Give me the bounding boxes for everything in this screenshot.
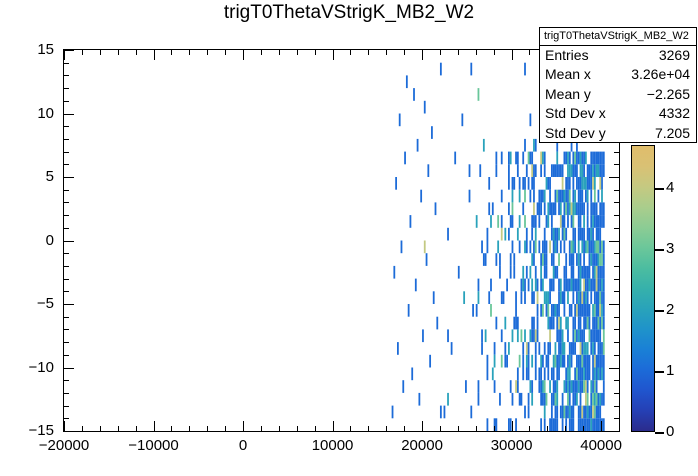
y-tick-right	[614, 253, 620, 254]
heatmap-cell	[547, 291, 549, 304]
heatmap-cell	[592, 266, 594, 279]
heatmap-cell	[420, 190, 422, 203]
heatmap-cell	[558, 317, 560, 330]
y-tick-right	[609, 177, 620, 178]
heatmap-cell	[556, 164, 558, 177]
y-tick-right	[614, 266, 620, 267]
heatmap-cell	[580, 279, 582, 292]
heatmap-cell	[440, 406, 442, 419]
heatmap-cell	[546, 177, 548, 190]
heatmap-cell	[495, 418, 497, 431]
heatmap-cell	[522, 279, 524, 292]
x-tick	[171, 426, 172, 432]
heatmap-cell	[522, 355, 524, 368]
heatmap-cell	[567, 380, 569, 393]
heatmap-cell	[603, 380, 605, 393]
heatmap-cell	[553, 266, 555, 279]
heatmap-cell	[589, 329, 591, 342]
heatmap-cell	[528, 177, 530, 190]
heatmap-cell	[519, 355, 521, 368]
heatmap-cell	[598, 279, 600, 292]
heatmap-cell	[598, 241, 600, 254]
heatmap-cell	[529, 241, 531, 254]
heatmap-cell	[560, 215, 562, 228]
heatmap-cell	[585, 190, 587, 203]
stat-value: −2.265	[647, 85, 690, 104]
heatmap-cell	[537, 304, 539, 317]
heatmap-cell	[565, 228, 567, 241]
heatmap-cell	[590, 342, 592, 355]
heatmap-cell	[572, 291, 574, 304]
z-tick	[655, 310, 664, 312]
heatmap-cell	[599, 329, 601, 342]
heatmap-cell	[519, 241, 521, 254]
heatmap-cell	[497, 241, 499, 254]
heatmap-cell	[599, 342, 601, 355]
heatmap-cell	[596, 406, 598, 419]
heatmap-cell	[524, 406, 526, 419]
heatmap-cell	[555, 164, 557, 177]
heatmap-cell	[598, 304, 600, 317]
heatmap-cell	[551, 228, 553, 241]
heatmap-cell	[578, 177, 580, 190]
heatmap-cell	[569, 304, 571, 317]
heatmap-cell	[567, 190, 569, 203]
y-tick	[63, 202, 69, 203]
heatmap-cell	[537, 202, 539, 215]
heatmap-cell	[580, 329, 582, 342]
heatmap-cell	[508, 164, 510, 177]
heatmap-cell	[553, 304, 555, 317]
heatmap-cell	[599, 202, 601, 215]
heatmap-cell	[524, 291, 526, 304]
heatmap-cell	[487, 355, 489, 368]
heatmap-cell	[556, 380, 558, 393]
x-tick	[82, 426, 83, 432]
heatmap-cell	[529, 190, 531, 203]
heatmap-cell	[549, 190, 551, 203]
heatmap-cell	[524, 177, 526, 190]
heatmap-cell	[585, 380, 587, 393]
heatmap-cell	[574, 393, 576, 406]
heatmap-cell	[562, 355, 564, 368]
heatmap-cell	[569, 355, 571, 368]
heatmap-cell	[417, 139, 419, 152]
heatmap-cell	[549, 241, 551, 254]
heatmap-cell	[513, 317, 515, 330]
heatmap-cell	[572, 393, 574, 406]
heatmap-cell	[538, 380, 540, 393]
x-tick-top	[333, 49, 334, 60]
heatmap-cell	[551, 393, 553, 406]
heatmap-cell	[558, 342, 560, 355]
heatmap-cell	[571, 304, 573, 317]
heatmap-cell	[580, 418, 582, 431]
heatmap-cell	[572, 266, 574, 279]
heatmap-cell	[596, 317, 598, 330]
heatmap-cell	[603, 279, 605, 292]
color-bar[interactable]	[631, 145, 655, 432]
heatmap-cell	[488, 177, 490, 190]
heatmap-cell	[564, 342, 566, 355]
heatmap-cell	[540, 355, 542, 368]
heatmap-cell	[592, 355, 594, 368]
x-tick	[315, 426, 316, 432]
heatmap-cell	[565, 152, 567, 165]
y-tick-right	[614, 355, 620, 356]
heatmap-cell	[587, 317, 589, 330]
x-tick	[440, 426, 441, 432]
heatmap-cell	[587, 393, 589, 406]
heatmap-cell	[564, 406, 566, 419]
heatmap-cell	[546, 304, 548, 317]
heatmap-cell	[535, 215, 537, 228]
heatmap-cell	[544, 190, 546, 203]
heatmap-cell	[596, 152, 598, 165]
heatmap-cell	[587, 279, 589, 292]
heatmap-cell	[542, 304, 544, 317]
heatmap-cell	[589, 253, 591, 266]
heatmap-cell	[581, 152, 583, 165]
heatmap-cell	[574, 368, 576, 381]
heatmap-cell	[569, 164, 571, 177]
heatmap-cell	[517, 380, 519, 393]
heatmap-cell	[587, 164, 589, 177]
heatmap-cell	[576, 202, 578, 215]
heatmap-cell	[494, 355, 496, 368]
heatmap-cell	[555, 241, 557, 254]
heatmap-cell	[538, 190, 540, 203]
heatmap-cell	[512, 393, 514, 406]
heatmap-cells	[64, 50, 619, 431]
heatmap-cell	[515, 317, 517, 330]
y-tick-right	[614, 291, 620, 292]
heatmap-cell	[598, 355, 600, 368]
heatmap-cell	[594, 418, 596, 431]
statistics-box[interactable]: trigT0ThetaVStrigK_MB2_W2 Entries3269Mea…	[539, 27, 697, 143]
heatmap-cell	[531, 164, 533, 177]
heatmap-cell	[504, 228, 506, 241]
heatmap-cell	[574, 342, 576, 355]
heatmap-cell	[556, 355, 558, 368]
heatmap-cell	[603, 291, 605, 304]
heatmap-cell	[594, 406, 596, 419]
heatmap-cell	[560, 241, 562, 254]
heatmap-cell	[506, 355, 508, 368]
heatmap-cell	[531, 355, 533, 368]
heatmap-cell	[599, 215, 601, 228]
heatmap-cell	[538, 342, 540, 355]
x-tick-top	[512, 49, 513, 60]
heatmap-cell	[546, 266, 548, 279]
heatmap-cell	[553, 418, 555, 431]
heatmap-cell	[594, 279, 596, 292]
heatmap-cell	[440, 63, 442, 76]
heatmap-cell	[594, 241, 596, 254]
heatmap-cell	[538, 215, 540, 228]
heatmap-cell	[596, 393, 598, 406]
heatmap-cell	[533, 202, 535, 215]
heatmap-cell	[598, 393, 600, 406]
x-tick-top	[458, 49, 459, 55]
heatmap-cell	[562, 164, 564, 177]
heatmap-cell	[569, 418, 571, 431]
heatmap-cell	[572, 317, 574, 330]
z-tick	[655, 188, 664, 190]
heatmap-cell	[587, 304, 589, 317]
heatmap-cell	[585, 152, 587, 165]
y-tick	[63, 241, 74, 242]
heatmap-cell	[551, 368, 553, 381]
heatmap-cell	[537, 279, 539, 292]
heatmap-cell	[571, 279, 573, 292]
heatmap-cell	[553, 202, 555, 215]
heatmap-cell	[562, 190, 564, 203]
heatmap-cell	[551, 253, 553, 266]
y-tick	[63, 164, 69, 165]
heatmap-cell	[585, 317, 587, 330]
z-tick-label: 1	[666, 363, 674, 378]
heatmap-cell	[553, 355, 555, 368]
heatmap-cell	[531, 152, 533, 165]
y-tick	[63, 101, 69, 102]
heatmap-cell	[580, 368, 582, 381]
heatmap-cell	[580, 406, 582, 419]
heatmap-cell	[589, 406, 591, 419]
heatmap-cell	[556, 152, 558, 165]
heatmap-cell	[538, 241, 540, 254]
heatmap-cell	[544, 266, 546, 279]
heatmap-cell	[451, 342, 453, 355]
heatmap-cell	[585, 355, 587, 368]
heatmap-cell	[544, 418, 546, 431]
heatmap-cell	[592, 164, 594, 177]
heatmap-cell	[501, 228, 503, 241]
heatmap-cell	[542, 241, 544, 254]
heatmap-cell	[594, 393, 596, 406]
heatmap-cell	[512, 241, 514, 254]
heatmap-cell	[592, 228, 594, 241]
heatmap-cell	[562, 329, 564, 342]
heatmap-cell	[592, 380, 594, 393]
heatmap-cell	[590, 215, 592, 228]
heatmap-cell	[408, 304, 410, 317]
heatmap-cell	[581, 202, 583, 215]
heatmap-cell	[555, 202, 557, 215]
x-tick	[261, 426, 262, 432]
heatmap-cell	[599, 317, 601, 330]
heatmap-cell	[567, 317, 569, 330]
heatmap-cell	[601, 304, 603, 317]
y-tick-right	[614, 393, 620, 394]
heatmap-cell	[494, 380, 496, 393]
heatmap-cell	[596, 329, 598, 342]
heatmap-cell	[603, 317, 605, 330]
heatmap-cell	[555, 304, 557, 317]
heatmap-cell	[589, 317, 591, 330]
x-tick-top	[279, 49, 280, 55]
heatmap-cell	[519, 393, 521, 406]
heatmap-cell	[581, 368, 583, 381]
heatmap-cell	[592, 368, 594, 381]
heatmap-cell	[487, 241, 489, 254]
heatmap-cell	[487, 368, 489, 381]
heatmap-cell	[560, 342, 562, 355]
heatmap-cell	[571, 253, 573, 266]
stat-key: Entries	[545, 46, 589, 65]
heatmap-cell	[517, 152, 519, 165]
heatmap-cell	[569, 241, 571, 254]
heatmap-cell	[574, 190, 576, 203]
heatmap-cell	[551, 317, 553, 330]
heatmap-cell	[542, 380, 544, 393]
heatmap-cell	[585, 266, 587, 279]
heatmap-cell	[583, 406, 585, 419]
heatmap-cell	[590, 164, 592, 177]
heatmap-cell	[558, 228, 560, 241]
heatmap-cell	[481, 329, 483, 342]
y-tick-right	[609, 431, 620, 432]
heatmap-cell	[513, 266, 515, 279]
heatmap-cell	[542, 190, 544, 203]
heatmap-cell	[567, 329, 569, 342]
x-tick-top	[136, 49, 137, 55]
heatmap-cell	[519, 215, 521, 228]
heatmap-cell	[397, 342, 399, 355]
x-tick-top	[368, 49, 369, 55]
heatmap-cell	[592, 253, 594, 266]
heatmap-cell	[601, 317, 603, 330]
heatmap-cell	[533, 317, 535, 330]
heatmap-cell	[562, 418, 564, 431]
x-tick-top	[118, 49, 119, 55]
stat-row: Std Dev x4332	[540, 104, 696, 123]
heatmap-cell	[562, 393, 564, 406]
heatmap-cell	[590, 228, 592, 241]
heatmap-cell	[578, 317, 580, 330]
y-tick	[63, 50, 74, 51]
y-tick	[63, 215, 69, 216]
heatmap-cell	[594, 342, 596, 355]
heatmap-cell	[598, 152, 600, 165]
heatmap-cell	[526, 342, 528, 355]
x-tick	[333, 421, 334, 432]
heatmap-cell	[478, 88, 480, 101]
x-tick	[494, 426, 495, 432]
heatmap-cell	[580, 380, 582, 393]
heatmap-cell	[578, 368, 580, 381]
x-tick-top	[154, 49, 155, 60]
heatmap-cell	[603, 329, 605, 342]
heatmap-cell	[549, 380, 551, 393]
heatmap-cell	[501, 355, 503, 368]
heatmap-cell	[551, 202, 553, 215]
heatmap-cell	[589, 266, 591, 279]
heatmap-cell	[490, 215, 492, 228]
heatmap-cell	[603, 241, 605, 254]
heatmap-cell	[585, 304, 587, 317]
heatmap-cell	[395, 177, 397, 190]
heatmap-cell	[544, 380, 546, 393]
heatmap-cell	[521, 279, 523, 292]
y-tick-label: 15	[0, 42, 54, 57]
x-tick-label: 0	[193, 438, 293, 453]
heatmap-cell	[402, 380, 404, 393]
heatmap-cell	[587, 177, 589, 190]
heatmap-cell	[522, 202, 524, 215]
heatmap-cell	[508, 177, 510, 190]
heatmap-cell	[546, 241, 548, 254]
y-tick	[63, 139, 69, 140]
heatmap-cell	[528, 152, 530, 165]
heatmap-cell	[556, 406, 558, 419]
heatmap-cell	[592, 418, 594, 431]
heatmap-cell	[524, 329, 526, 342]
heatmap-cell	[596, 241, 598, 254]
heatmap-cell	[558, 304, 560, 317]
heatmap-cell	[447, 228, 449, 241]
x-tick	[154, 421, 155, 432]
heatmap-cell	[580, 253, 582, 266]
heatmap-cell	[501, 152, 503, 165]
heatmap-cell	[565, 253, 567, 266]
heatmap-cell	[590, 279, 592, 292]
heatmap-cell	[578, 304, 580, 317]
heatmap-cell	[571, 355, 573, 368]
heatmap-cell	[510, 215, 512, 228]
heatmap-cell	[560, 202, 562, 215]
heatmap-cell	[590, 152, 592, 165]
heatmap-cell	[601, 279, 603, 292]
heatmap-cell	[594, 266, 596, 279]
heatmap-cell	[515, 291, 517, 304]
heatmap-cell	[578, 190, 580, 203]
heatmap-cell	[531, 253, 533, 266]
heatmap-cell	[581, 380, 583, 393]
heatmap-cell	[580, 152, 582, 165]
heatmap-cell	[578, 228, 580, 241]
heatmap-cell	[546, 215, 548, 228]
heatmap-cell	[512, 215, 514, 228]
heatmap-cell	[560, 329, 562, 342]
x-tick-label: 10000	[283, 438, 383, 453]
heatmap-cell	[569, 380, 571, 393]
heatmap-cell	[485, 253, 487, 266]
heatmap-cell	[533, 139, 535, 152]
heatmap-cell	[510, 380, 512, 393]
heatmap-cell	[499, 253, 501, 266]
z-tick-label: 0	[666, 424, 674, 439]
heatmap-cell	[531, 380, 533, 393]
heatmap-cell	[598, 317, 600, 330]
heatmap-cell	[526, 164, 528, 177]
heatmap-cell	[521, 393, 523, 406]
heatmap-cell	[589, 279, 591, 292]
heatmap-cell	[564, 190, 566, 203]
heatmap-cell	[501, 190, 503, 203]
heatmap-cell	[499, 266, 501, 279]
heatmap-cell	[546, 355, 548, 368]
heatmap-cell	[558, 253, 560, 266]
y-tick-right	[609, 304, 620, 305]
heatmap-cell	[555, 418, 557, 431]
heatmap-cell	[564, 241, 566, 254]
heatmap-cell	[544, 406, 546, 419]
heatmap-cell	[495, 253, 497, 266]
heatmap-cell	[436, 317, 438, 330]
heatmap-cell	[580, 266, 582, 279]
y-tick	[63, 75, 69, 76]
